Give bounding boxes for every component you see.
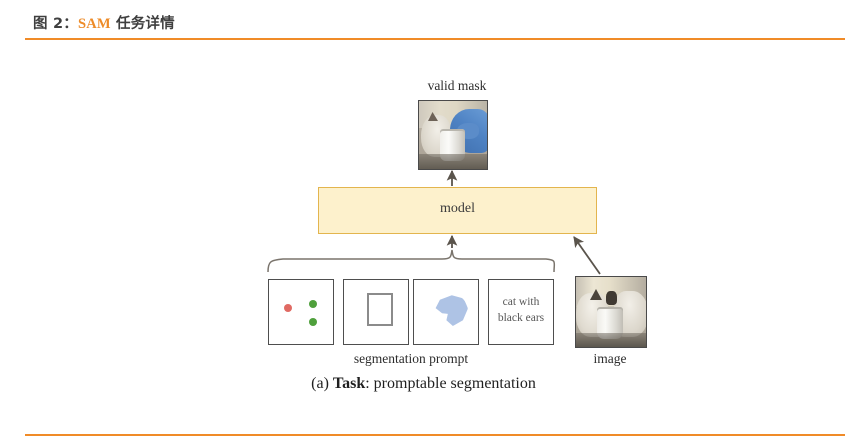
text-prompt-box: cat with black ears	[488, 279, 554, 345]
mask-blob-marker	[432, 294, 468, 326]
negative-point-marker	[284, 304, 292, 312]
box-prompt-box	[343, 279, 409, 345]
valid-mask-label: valid mask	[417, 78, 497, 94]
input-image-foreground-shadow	[576, 333, 646, 347]
input-image-cat-ear-right	[606, 291, 617, 305]
page-title-suffix: 任务详情	[111, 16, 175, 32]
mask-prompt-box	[413, 279, 479, 345]
figure-caption-rest: : promptable segmentation	[365, 375, 536, 392]
figure-caption: (a) Task: promptable segmentation	[0, 375, 847, 393]
figure-sam-task-diagram: valid mask model cat with black ears	[0, 48, 847, 420]
arrow-image-to-model	[574, 237, 600, 274]
figure-caption-bold: Task	[333, 375, 365, 392]
input-image-thumbnail	[575, 276, 647, 348]
header-divider	[25, 38, 845, 40]
model-box: model	[318, 187, 597, 234]
bounding-box-marker	[367, 293, 393, 326]
segmentation-prompt-label: segmentation prompt	[268, 351, 554, 367]
image-label: image	[575, 351, 645, 367]
valid-mask-foreground-shadow	[419, 154, 487, 169]
points-prompt-box	[268, 279, 334, 345]
figure-caption-index: (a)	[311, 375, 333, 392]
page-title: 图 2：SAM 任务详情	[33, 12, 175, 33]
text-prompt-line-2: black ears	[489, 310, 553, 326]
positive-point-marker	[309, 318, 317, 326]
page-title-accent: SAM	[78, 16, 111, 32]
valid-mask-thumbnail	[418, 100, 488, 170]
text-prompt-line-1: cat with	[489, 294, 553, 310]
prompt-group-brace	[268, 250, 554, 272]
footer-divider	[25, 434, 845, 436]
positive-point-marker	[309, 300, 317, 308]
model-label: model	[319, 201, 596, 217]
page-title-prefix: 图 2：	[33, 16, 78, 32]
text-prompt-content: cat with black ears	[489, 294, 553, 326]
